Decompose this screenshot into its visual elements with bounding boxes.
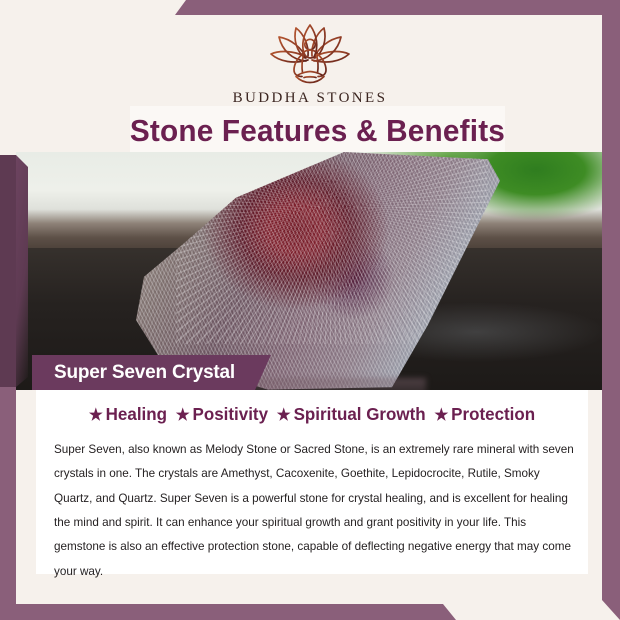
lotus-meditation-icon: [0, 20, 620, 88]
content-panel: ★Healing★Positivity★Spiritual Growth★Pro…: [36, 390, 588, 574]
benefit-item-protection: ★Protection: [434, 404, 535, 425]
benefit-label: Positivity: [193, 404, 268, 424]
brand-name: BUDDHA STONES: [0, 90, 620, 107]
benefit-label: Healing: [106, 404, 167, 424]
frame-right-band: [602, 0, 620, 620]
hero-image: Super Seven Crystal: [16, 152, 604, 390]
stone-features-poster: BUDDHA STONES Stone Features & Benefits …: [0, 0, 620, 620]
star-icon: ★: [176, 407, 190, 424]
frame-bottom-band: [0, 604, 620, 620]
frame-left-accent-bar: [0, 155, 16, 387]
benefit-item-positivity: ★Positivity: [176, 404, 268, 425]
hero-caption-text: Super Seven Crystal: [54, 362, 235, 384]
description-text: Super Seven, also known as Melody Stone …: [36, 438, 588, 584]
hero-caption-banner: Super Seven Crystal: [32, 355, 271, 390]
benefit-label: Protection: [451, 404, 535, 424]
star-icon: ★: [89, 407, 103, 424]
benefit-label: Spiritual Growth: [294, 404, 426, 424]
page-title: Stone Features & Benefits: [130, 113, 505, 149]
star-icon: ★: [277, 407, 291, 424]
star-icon: ★: [434, 407, 448, 424]
brand-logo: BUDDHA STONES: [0, 20, 620, 107]
benefit-item-healing: ★Healing: [89, 404, 167, 425]
page-title-band: Stone Features & Benefits: [130, 106, 505, 155]
benefits-list: ★Healing★Positivity★Spiritual Growth★Pro…: [44, 404, 579, 425]
frame-left-band: [0, 385, 16, 620]
benefit-item-spiritual-growth: ★Spiritual Growth: [277, 404, 426, 425]
